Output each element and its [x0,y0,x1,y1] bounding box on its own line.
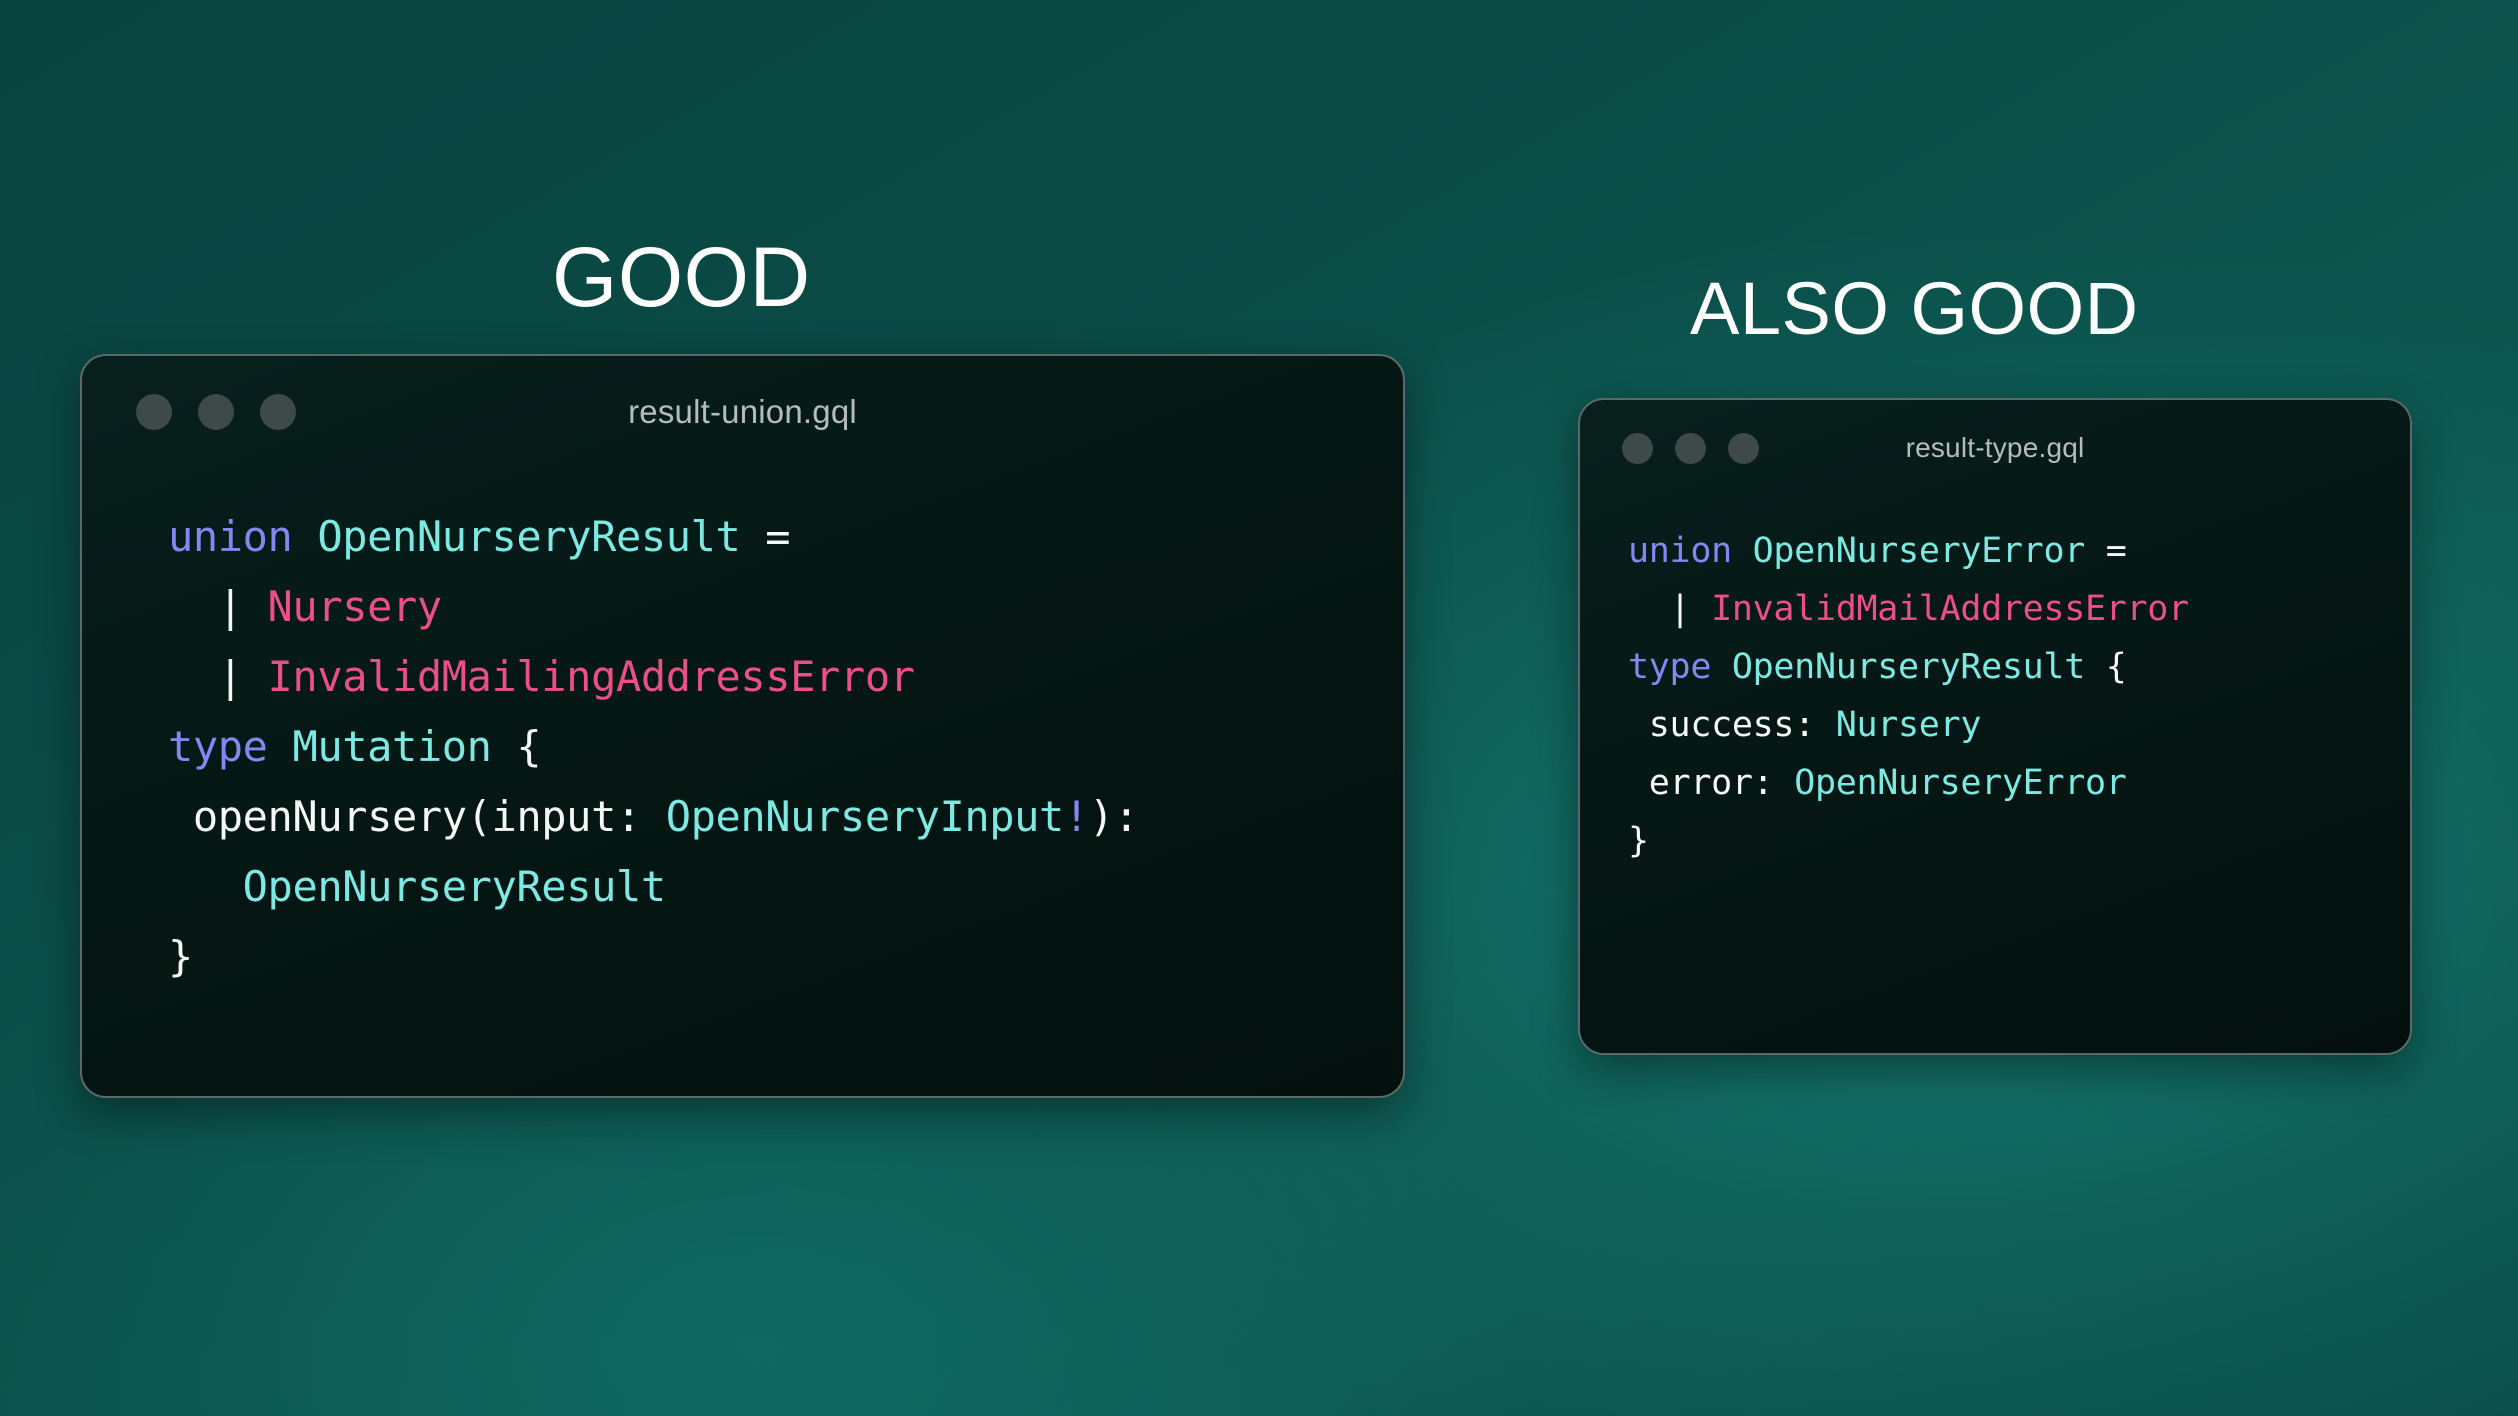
code-line: | InvalidMailAddressError [1628,580,2410,638]
code-token-type: OpenNurseryResult [243,862,666,911]
code-token-plain: = [740,512,790,561]
code-token-plain: { [492,722,542,771]
close-dot-icon[interactable] [1622,433,1653,464]
code-token-keyword: union [168,512,317,561]
code-block-good[interactable]: union OpenNurseryResult = | Nursery | In… [82,468,1403,992]
heading-good: GOOD [552,235,811,319]
code-token-plain: | [168,652,268,701]
code-token-plain: error: [1628,763,1794,803]
close-dot-icon[interactable] [136,394,172,430]
code-token-plain: } [168,932,193,981]
code-token-plain [168,862,243,911]
heading-also-good: ALSO GOOD [1690,272,2139,346]
code-token-type: OpenNurseryError [1753,531,2085,571]
code-token-type: Mutation [292,722,491,771]
code-line: type Mutation { [168,712,1403,782]
code-token-type: OpenNurseryResult [1732,647,2085,687]
code-token-keyword: type [168,722,292,771]
code-token-plain: openNursery(input: [168,792,666,841]
code-token-type: OpenNurseryInput [666,792,1064,841]
code-token-keyword: type [1628,647,1732,687]
window-controls-also-good [1622,433,1759,464]
maximize-dot-icon[interactable] [1728,433,1759,464]
code-line: success: Nursery [1628,696,2410,754]
titlebar-also-good: result-type.gql [1580,400,2410,496]
code-line: } [168,922,1403,992]
minimize-dot-icon[interactable] [1675,433,1706,464]
code-token-plain: | [1628,589,1711,629]
code-line: type OpenNurseryResult { [1628,638,2410,696]
code-token-plain: = [2085,531,2127,571]
code-token-plain: ): [1089,792,1139,841]
code-line: | InvalidMailingAddressError [168,642,1403,712]
minimize-dot-icon[interactable] [198,394,234,430]
code-token-type: Nursery [1836,705,1981,745]
code-line: union OpenNurseryResult = [168,502,1403,572]
code-token-type: OpenNurseryError [1794,763,2126,803]
code-window-good[interactable]: result-union.gql union OpenNurseryResult… [80,354,1405,1098]
code-token-error: InvalidMailAddressError [1711,589,2189,629]
code-token-keyword: union [1628,531,1753,571]
maximize-dot-icon[interactable] [260,394,296,430]
code-line: OpenNurseryResult [168,852,1403,922]
code-token-plain: { [2085,647,2127,687]
code-block-also-good[interactable]: union OpenNurseryError = | InvalidMailAd… [1580,496,2410,870]
code-token-plain: } [1628,821,1649,861]
code-token-bang: ! [1064,792,1089,841]
code-line: | Nursery [168,572,1403,642]
code-token-plain: success: [1628,705,1836,745]
code-line: union OpenNurseryError = [1628,522,2410,580]
code-token-error: Nursery [268,582,442,631]
code-token-type: OpenNurseryResult [317,512,740,561]
code-token-error: InvalidMailingAddressError [268,652,915,701]
window-controls-good [136,394,296,430]
titlebar-good: result-union.gql [82,356,1403,468]
code-window-also-good[interactable]: result-type.gql union OpenNurseryError =… [1578,398,2412,1055]
code-line: error: OpenNurseryError [1628,754,2410,812]
code-line: openNursery(input: OpenNurseryInput!): [168,782,1403,852]
code-token-plain: | [168,582,268,631]
code-line: } [1628,812,2410,870]
slide-canvas: GOOD result-union.gql union OpenNurseryR… [0,0,2518,1416]
